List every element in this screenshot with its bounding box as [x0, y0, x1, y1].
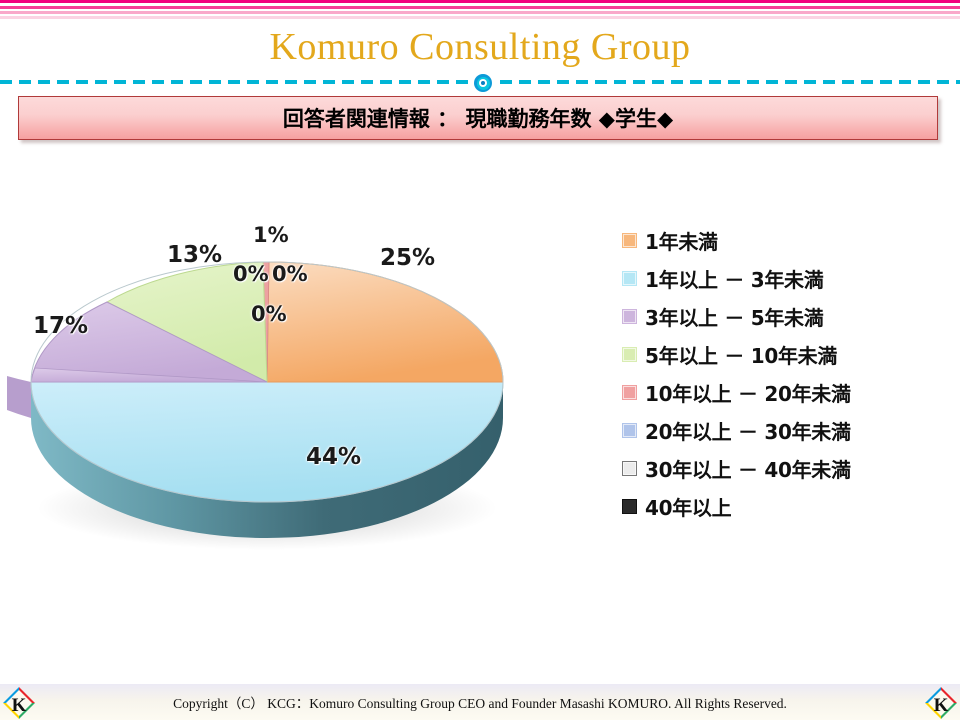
- svg-text:K: K: [12, 695, 27, 716]
- legend-label: 10年以上 － 20年未満: [645, 378, 851, 407]
- pie-chart: 25% 44% 17% 13% 1% 0% 0% 0%: [0, 190, 595, 560]
- pie-slice-label: 44%: [306, 444, 361, 470]
- legend-item[interactable]: 5年以上 － 10年未満: [622, 335, 952, 373]
- logo-right: K: [924, 686, 958, 720]
- legend-label: 30年以上 － 40年未満: [645, 454, 851, 483]
- legend-swatch-icon: [622, 385, 637, 400]
- section-title-banner: 回答者関連情報 ： 現職勤務年数 ◆学生◆: [18, 96, 938, 140]
- legend-label: 5年以上 － 10年未満: [645, 340, 837, 369]
- legend-label: 20年以上 － 30年未満: [645, 416, 851, 445]
- legend-label: 3年以上 － 5年未満: [645, 302, 823, 331]
- legend-label: 1年未満: [645, 226, 718, 255]
- legend-swatch-icon: [622, 461, 637, 476]
- logo-left: K: [2, 686, 36, 720]
- svg-text:K: K: [934, 695, 949, 716]
- footer-copyright: Copyright（C） KCG：Komuro Consulting Group…: [0, 684, 960, 720]
- legend-item[interactable]: 20年以上 － 30年未満: [622, 411, 952, 449]
- legend-item[interactable]: 1年以上 － 3年未満: [622, 259, 952, 297]
- legend-item[interactable]: 1年未満: [622, 221, 952, 259]
- legend-swatch-icon: [622, 271, 637, 286]
- legend-swatch-icon: [622, 309, 637, 324]
- pie-slice-label: 17%: [33, 313, 88, 339]
- legend-swatch-icon: [622, 499, 637, 514]
- top-decorative-stripes: [0, 0, 960, 22]
- legend-item[interactable]: 30年以上 － 40年未満: [622, 449, 952, 487]
- legend-label: 1年以上 － 3年未満: [645, 264, 823, 293]
- concentric-circle-ornament-icon: [472, 74, 496, 94]
- divider: [0, 74, 960, 90]
- pie-slice-label: 13%: [167, 242, 222, 268]
- divider-dash-left: [0, 80, 470, 84]
- legend-item[interactable]: 40年以上: [622, 487, 952, 525]
- pie-slice-label: 0%: [272, 262, 308, 286]
- pie-slice-label: 1%: [253, 223, 289, 247]
- legend-swatch-icon: [622, 423, 637, 438]
- legend-item[interactable]: 3年以上 － 5年未満: [622, 297, 952, 335]
- slide: Komuro Consulting Group 回答者関連情報 ： 現職勤務年数…: [0, 0, 960, 720]
- pie-chart-svg: [0, 190, 595, 560]
- pie-slice-label: 0%: [233, 262, 269, 286]
- chart-container: 25% 44% 17% 13% 1% 0% 0% 0% 1年未満1年以上 － 3…: [0, 185, 960, 605]
- legend-item[interactable]: 10年以上 － 20年未満: [622, 373, 952, 411]
- section-title-text: 回答者関連情報 ： 現職勤務年数 ◆学生◆: [283, 103, 673, 133]
- pie-slice-label: 25%: [380, 245, 435, 271]
- page-title: Komuro Consulting Group: [0, 22, 960, 72]
- legend-swatch-icon: [622, 347, 637, 362]
- pie-slice-label: 0%: [251, 302, 287, 326]
- legend-label: 40年以上: [645, 492, 731, 521]
- divider-dash-right: [500, 80, 960, 84]
- chart-legend: 1年未満1年以上 － 3年未満3年以上 － 5年未満5年以上 － 10年未満10…: [622, 221, 952, 525]
- legend-swatch-icon: [622, 233, 637, 248]
